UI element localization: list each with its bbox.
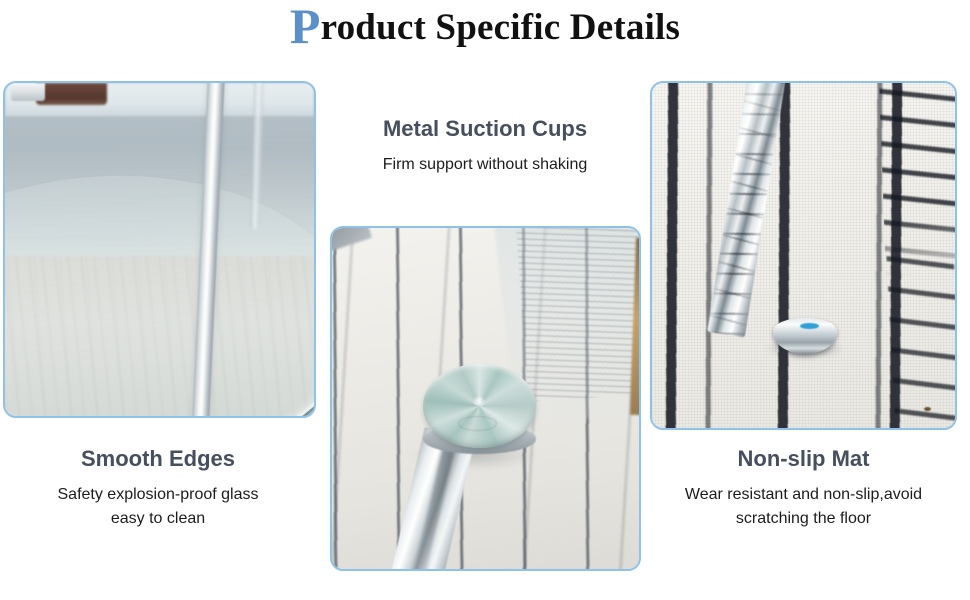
suction-cup-emboss — [458, 416, 497, 432]
dark-object-top — [36, 83, 107, 105]
caption-body-line-1: Wear resistant and non-slip,avoid — [652, 483, 955, 507]
caption-body-line-1: Safety explosion-proof glass — [8, 483, 308, 507]
page-title: Product Specific Details — [0, 6, 970, 49]
chrome-cap-top-left — [11, 83, 45, 101]
caption-heading: Metal Suction Cups — [335, 116, 635, 142]
caption-body: Firm support without shaking — [335, 153, 635, 177]
mat-tick-pattern-lower — [886, 240, 955, 428]
photo-panel-smooth-edges — [3, 81, 316, 418]
suction-cup-disc — [423, 364, 537, 448]
caption-metal-suction-cups: Metal Suction Cups Firm support without … — [335, 116, 635, 177]
caption-body-line-2: easy to clean — [8, 507, 308, 531]
glass-hatch-reflection — [516, 228, 639, 403]
suction-cup-center-highlight — [473, 397, 485, 406]
photo-metal-suction-cups — [332, 228, 639, 569]
rug-speck — [924, 407, 931, 411]
photo-non-slip-mat — [652, 83, 955, 428]
caption-non-slip-mat: Non-slip Mat Wear resistant and non-slip… — [652, 446, 955, 531]
photo-smooth-edges — [5, 83, 314, 416]
caption-body: Safety explosion-proof glass easy to cle… — [8, 483, 308, 531]
caption-body-line-1: Firm support without shaking — [335, 153, 635, 177]
caption-body: Wear resistant and non-slip,avoid scratc… — [652, 483, 955, 531]
product-detail-page: Product Specific Details — [0, 0, 970, 600]
caption-body-line-2: scratching the floor — [652, 507, 955, 531]
caption-heading: Smooth Edges — [8, 446, 308, 472]
page-title-rest: roduct Specific Details — [321, 7, 680, 48]
page-title-dropcap: P — [290, 0, 321, 54]
photo-panel-metal-suction-cups — [330, 226, 641, 571]
caption-heading: Non-slip Mat — [652, 446, 955, 472]
blue-reflection-highlight — [800, 323, 818, 329]
caption-smooth-edges: Smooth Edges Safety explosion-proof glas… — [8, 446, 308, 531]
photo-panel-non-slip-mat — [650, 81, 957, 430]
